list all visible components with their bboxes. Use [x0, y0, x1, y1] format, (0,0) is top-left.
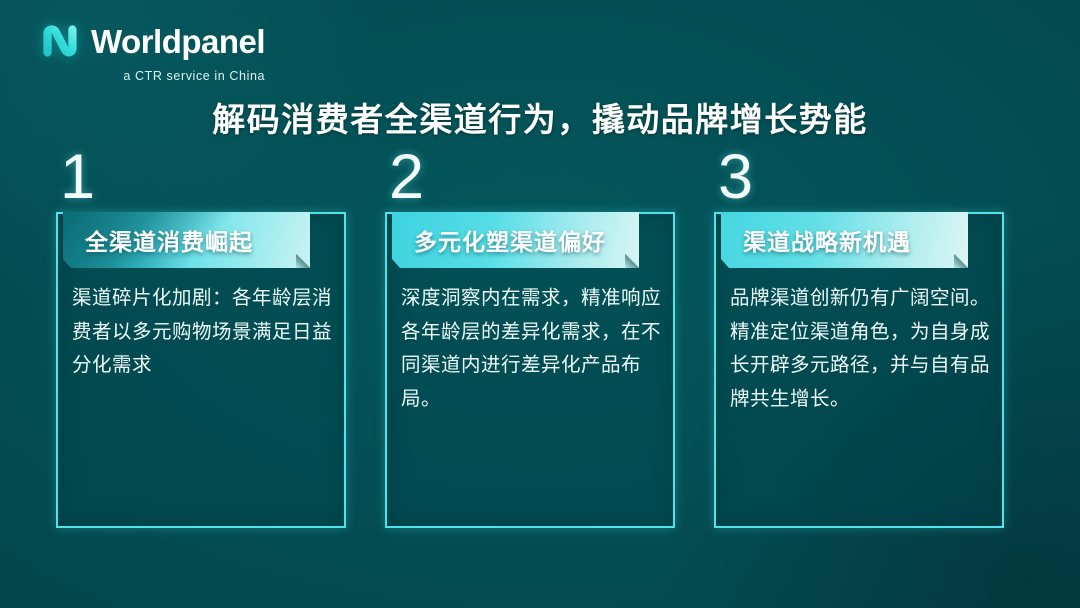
brand-name: Worldpanel	[91, 25, 265, 58]
card-3-banner: 渠道战略新机遇	[721, 212, 968, 268]
brand-logo: Worldpanel a CTR service in China	[36, 18, 265, 83]
card-3-body: 品牌渠道创新仍有广阔空间。精准定位渠道角色，为自身成长开辟多元路径，并与自有品牌…	[730, 282, 990, 416]
card-2-number: 2	[389, 146, 424, 209]
logo-row: Worldpanel	[36, 18, 265, 64]
page-title: 解码消费者全渠道行为，撬动品牌增长势能	[0, 100, 1080, 140]
brand-tagline: a CTR service in China	[36, 69, 267, 83]
card-2-heading: 多元化塑渠道偏好	[392, 223, 606, 257]
slide-canvas: Worldpanel a CTR service in China 解码消费者全…	[0, 0, 1080, 608]
card-1: 1 全渠道消费崛起 渠道碎片化加剧：各年龄层消费者以多元购物场景满足日益分化需求	[56, 150, 346, 550]
card-1-number: 1	[60, 146, 95, 209]
card-2-body: 深度洞察内在需求，精准响应各年龄层的差异化需求，在不同渠道内进行差异化产品布局。	[401, 282, 661, 416]
card-2-banner: 多元化塑渠道偏好	[392, 212, 639, 268]
card-1-body: 渠道碎片化加剧：各年龄层消费者以多元购物场景满足日益分化需求	[72, 282, 332, 383]
card-1-banner: 全渠道消费崛起	[63, 212, 310, 268]
card-list: 1 全渠道消费崛起 渠道碎片化加剧：各年龄层消费者以多元购物场景满足日益分化需求…	[56, 150, 1004, 550]
card-2: 2 多元化塑渠道偏好 深度洞察内在需求，精准响应各年龄层的差异化需求，在不同渠道…	[385, 150, 675, 550]
worldpanel-n-mark-icon	[36, 18, 82, 64]
card-3: 3 渠道战略新机遇 品牌渠道创新仍有广阔空间。精准定位渠道角色，为自身成长开辟多…	[714, 150, 1004, 550]
card-3-heading: 渠道战略新机遇	[721, 223, 911, 257]
card-3-number: 3	[718, 146, 753, 209]
card-1-heading: 全渠道消费崛起	[63, 223, 253, 257]
